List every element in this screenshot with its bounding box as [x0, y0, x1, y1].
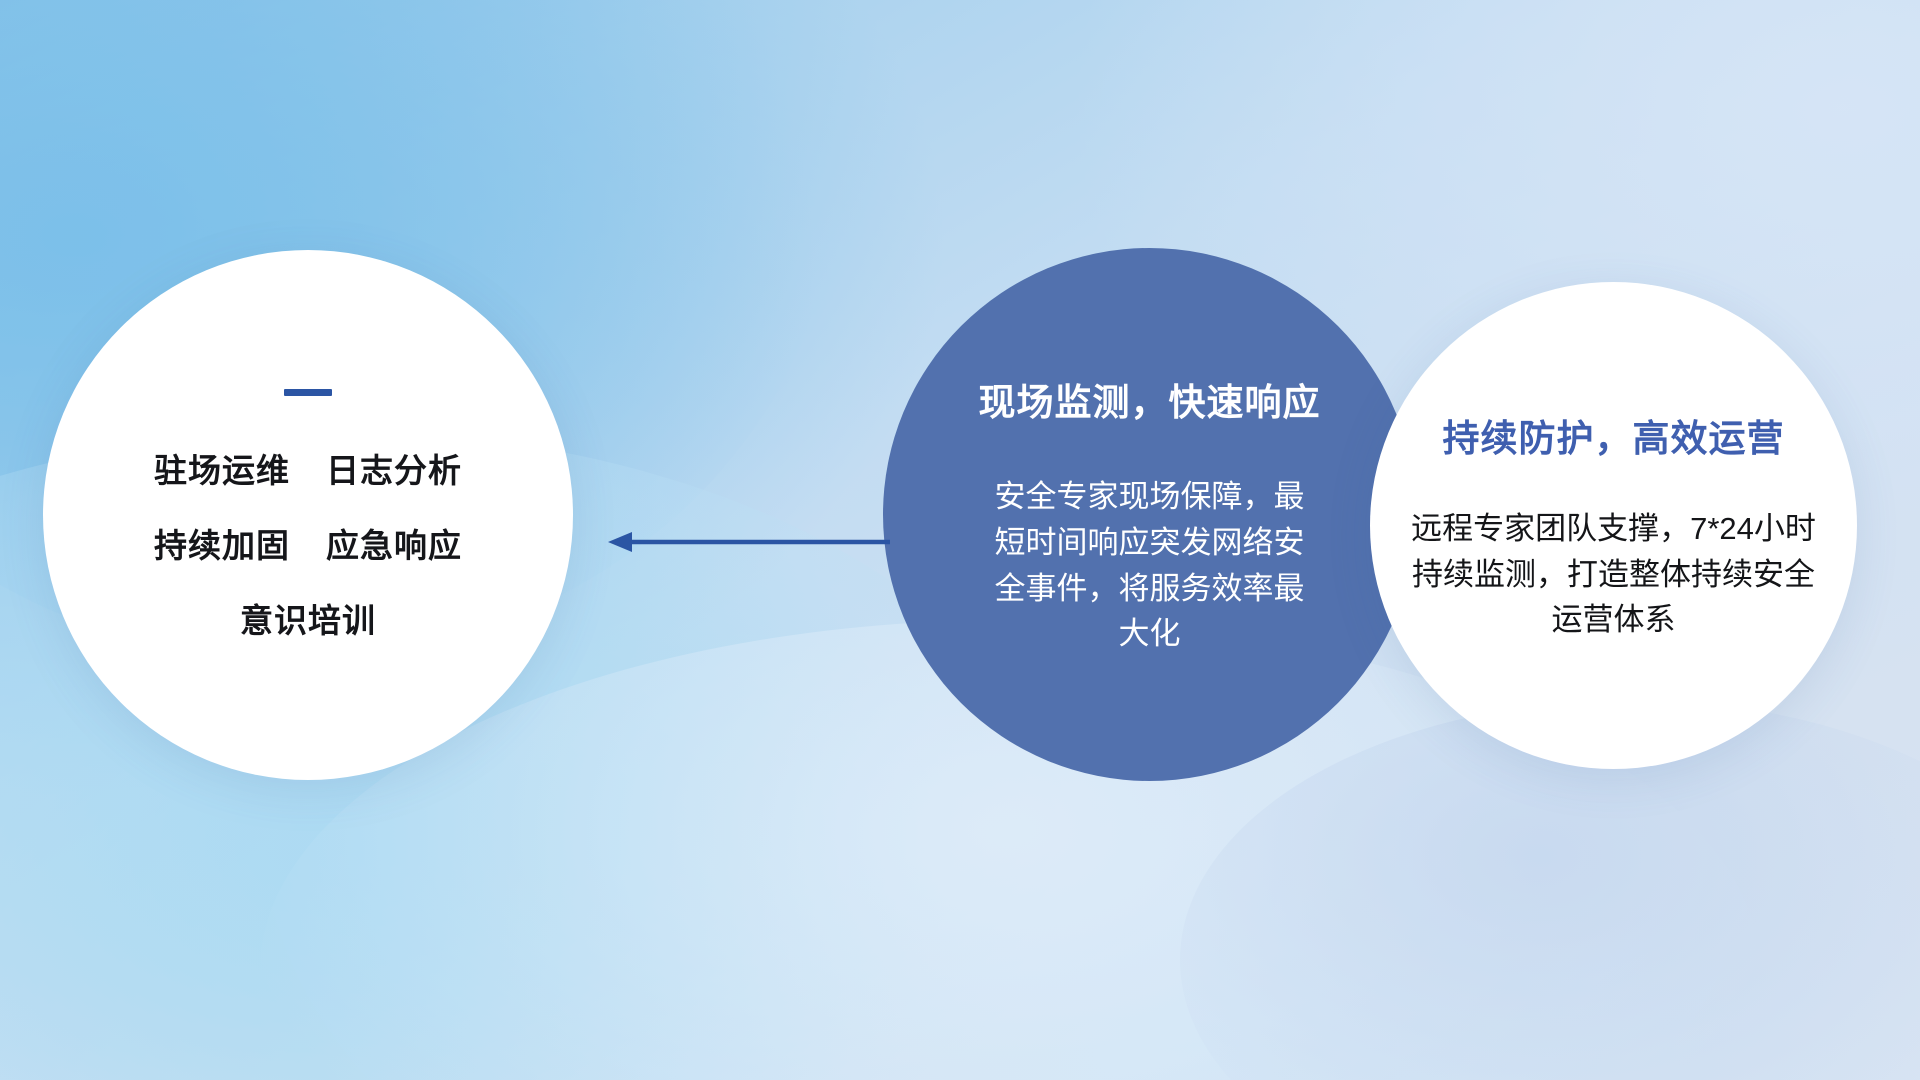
- right-operations-circle[interactable]: 持续防护，高效运营 远程专家团队支撑，7*24小时持续监测，打造整体持续安全运营…: [1370, 282, 1857, 769]
- slide-canvas: 驻场运维 日志分析 持续加固 应急响应 意识培训 现场监测，快速响应 安全专家现…: [0, 0, 1920, 1080]
- middle-circle-body: 安全专家现场保障，最短时间响应突发网络安全事件，将服务效率最大化: [985, 474, 1315, 658]
- capability-tag: 意识培训: [240, 594, 376, 642]
- divider-dash-icon: [284, 389, 332, 396]
- capability-tag: 日志分析: [326, 444, 462, 492]
- capability-row: 持续加固 应急响应: [154, 519, 462, 567]
- flow-arrow-left-icon: [604, 522, 894, 562]
- right-circle-title: 持续防护，高效运营: [1443, 408, 1785, 462]
- right-circle-body: 远程专家团队支撑，7*24小时持续监测，打造整体持续安全运营体系: [1409, 506, 1819, 644]
- middle-circle-title: 现场监测，快速响应: [979, 372, 1321, 426]
- capability-tag: 驻场运维: [154, 444, 290, 492]
- capability-tag: 应急响应: [326, 519, 462, 567]
- left-capability-circle[interactable]: 驻场运维 日志分析 持续加固 应急响应 意识培训: [43, 250, 573, 780]
- capability-row: 驻场运维 日志分析: [154, 444, 462, 492]
- capability-tag: 持续加固: [154, 519, 290, 567]
- middle-onsite-circle[interactable]: 现场监测，快速响应 安全专家现场保障，最短时间响应突发网络安全事件，将服务效率最…: [883, 248, 1416, 781]
- capability-row: 意识培训: [240, 594, 376, 642]
